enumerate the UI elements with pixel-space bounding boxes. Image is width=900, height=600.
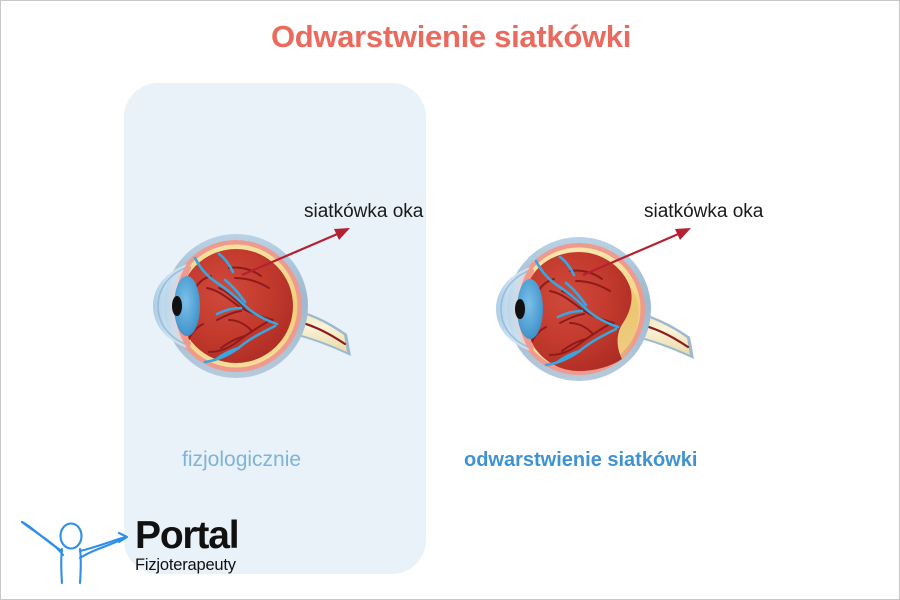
pupil [515, 299, 525, 319]
callout-arrow-right [579, 223, 699, 283]
pupil [172, 296, 182, 316]
physiotherapy-figure-icon [17, 511, 129, 589]
page-title: Odwarstwienie siatkówki [1, 19, 900, 55]
callout-label-retina-right: siatkówka oka [644, 201, 763, 223]
caption-detached: odwarstwienie siatkówki [464, 449, 697, 472]
callout-label-retina-left: siatkówka oka [304, 201, 423, 223]
logo-brand: Portal [135, 517, 270, 555]
logo[interactable]: Portal Fizjoterapeuty [17, 509, 267, 591]
callout-arrow-left [238, 223, 358, 283]
logo-subtitle: Fizjoterapeuty [135, 556, 270, 574]
infographic-canvas: Odwarstwienie siatkówki [0, 0, 900, 600]
caption-healthy: fizjologicznie [182, 448, 301, 472]
